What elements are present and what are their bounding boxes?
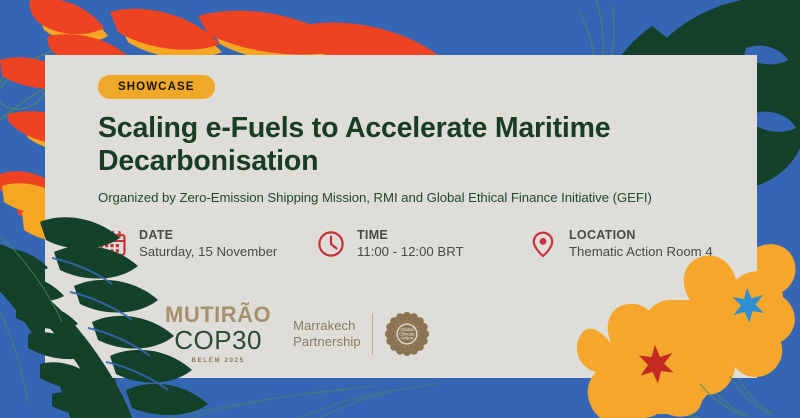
page-title: Scaling e-Fuels to Accelerate Maritime D… [98, 112, 698, 179]
gca-line-3: Action [400, 335, 413, 340]
detail-value-location: Thematic Action Room 4 [569, 244, 713, 261]
cop30-belem-text: BELÉM 2025 [192, 357, 245, 364]
detail-label-location: LOCATION [569, 227, 713, 243]
location-pin-icon [528, 229, 558, 259]
event-details: DATE Saturday, 15 November TIME [98, 227, 737, 261]
marrakech-partnership-text: Marrakech Partnership [293, 318, 361, 350]
marrakech-line-1: Marrakech [293, 318, 361, 334]
marrakech-partnership-logo: Marrakech Partnership [293, 311, 430, 357]
showcase-badge: SHOWCASE [98, 75, 215, 99]
logo-divider [372, 313, 373, 355]
detail-location: LOCATION Thematic Action Room 4 [528, 227, 713, 261]
global-climate-action-icon: Global Climate Action [384, 311, 430, 357]
event-card: SHOWCASE Scaling e-Fuels to Accelerate M… [45, 55, 757, 378]
cop30-logo: MUTIRÃO COP30 BELÉM 2025 [165, 304, 271, 364]
detail-time: TIME 11:00 - 12:00 BRT [316, 227, 528, 261]
detail-value-date: Saturday, 15 November [139, 244, 277, 261]
marrakech-line-2: Partnership [293, 334, 361, 350]
cop30-mutirao-text: MUTIRÃO [165, 304, 271, 326]
detail-date: DATE Saturday, 15 November [98, 227, 316, 261]
detail-label-time: TIME [357, 227, 464, 243]
event-poster: SHOWCASE Scaling e-Fuels to Accelerate M… [0, 0, 800, 418]
detail-value-time: 11:00 - 12:00 BRT [357, 244, 464, 261]
cop30-text: COP30 [174, 327, 262, 354]
organizer-line: Organized by Zero-Emission Shipping Miss… [98, 190, 737, 205]
calendar-icon [98, 229, 128, 259]
detail-label-date: DATE [139, 227, 277, 243]
clock-icon [316, 229, 346, 259]
logo-row: MUTIRÃO COP30 BELÉM 2025 Marrakech Partn… [165, 304, 430, 364]
